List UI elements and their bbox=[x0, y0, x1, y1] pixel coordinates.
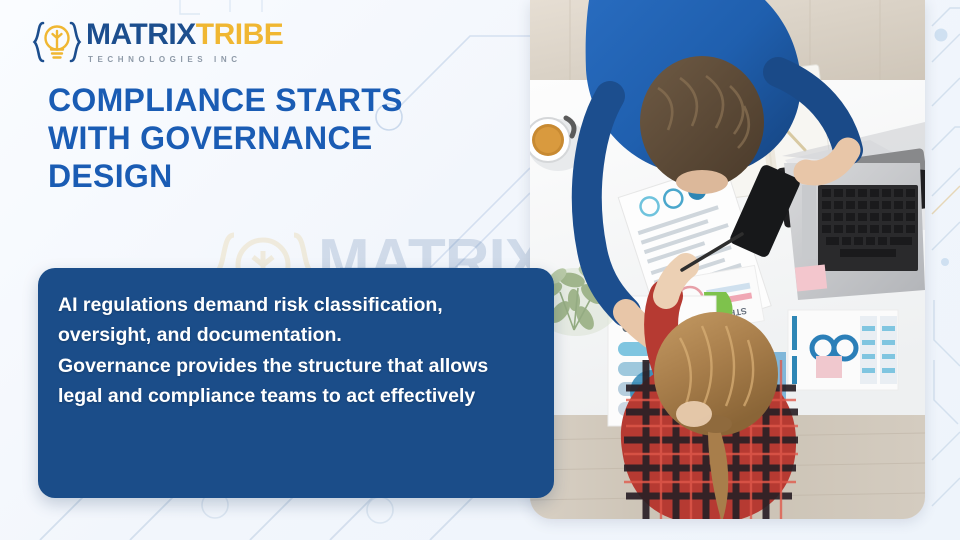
hero-photo: STRATEGIES BUSINESS GOALS bbox=[530, 0, 925, 519]
lightbulb-in-braces-icon bbox=[30, 16, 84, 68]
slide-canvas: MATRIXTRIBE TECHNOLOGIES bbox=[0, 0, 960, 540]
message-card-text: AI regulations demand risk classificatio… bbox=[58, 290, 532, 412]
logo-word-matrix: MATRIX bbox=[86, 18, 196, 51]
page-title: COMPLIANCE STARTS WITH GOVERNANCE DESIGN bbox=[48, 82, 428, 195]
logo-word-tribe: TRIBE bbox=[196, 18, 284, 51]
message-card: AI regulations demand risk classificatio… bbox=[38, 268, 554, 498]
logo-tagline: TECHNOLOGIES INC bbox=[88, 55, 283, 64]
brand-logo[interactable]: MATRIXTRIBE TECHNOLOGIES INC bbox=[30, 16, 283, 68]
